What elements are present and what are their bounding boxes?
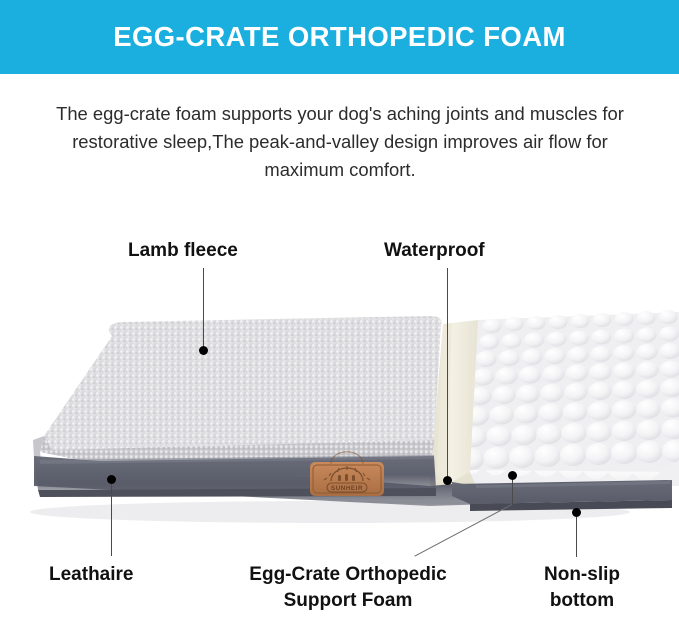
page-title: EGG-CRATE ORTHOPEDIC FOAM <box>113 23 566 51</box>
callout-label-waterproof: Waterproof <box>384 238 485 264</box>
callout-label-leathaire: Leathaire <box>49 562 133 588</box>
callout-dot-egg-crate <box>508 471 517 480</box>
callout-dot-lamb-fleece <box>199 346 208 355</box>
callout-dot-waterproof <box>443 476 452 485</box>
callout-label-lamb-fleece: Lamb fleece <box>128 238 238 264</box>
callout-dot-leathaire <box>107 475 116 484</box>
callout-line-leathaire <box>111 484 112 556</box>
callout-line-egg-crate-vert <box>512 480 513 505</box>
callout-line-non-slip <box>576 517 577 557</box>
callout-line-lamb-fleece <box>203 268 204 350</box>
header-banner: EGG-CRATE ORTHOPEDIC FOAM <box>0 0 679 74</box>
callout-label-egg-crate: Egg-Crate Orthopedic Support Foam <box>213 562 483 614</box>
callout-label-non-slip: Non-slip bottom <box>524 562 640 614</box>
callout-line-waterproof <box>447 268 448 480</box>
product-illustration: SUNHEIR <box>0 290 679 535</box>
svg-text:SUNHEIR: SUNHEIR <box>331 485 363 492</box>
product-description: The egg-crate foam supports your dog's a… <box>52 100 628 184</box>
callout-dot-non-slip <box>572 508 581 517</box>
